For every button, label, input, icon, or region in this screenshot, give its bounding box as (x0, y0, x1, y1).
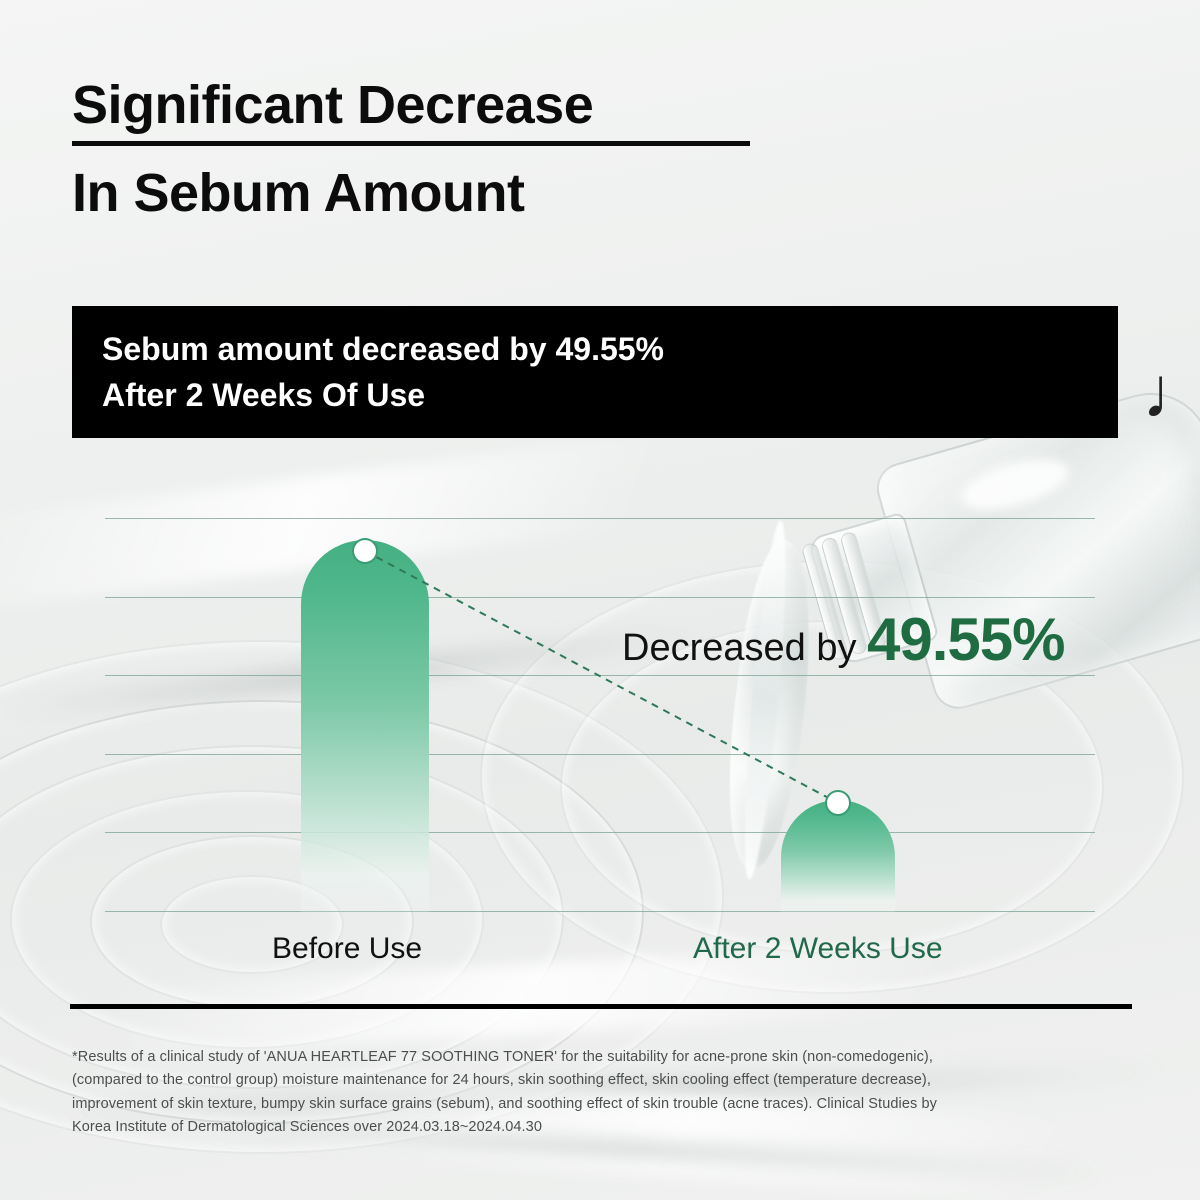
gridline (105, 675, 1095, 676)
sebum-bar-chart: Decreased by 49.55% Before Use After 2 W… (0, 0, 1200, 1200)
footer-divider (70, 1004, 1132, 1009)
data-point-marker-after (825, 790, 851, 816)
gridline (105, 832, 1095, 833)
footnote-block: *Results of a clinical study of 'ANUA HE… (72, 1046, 1132, 1140)
footnote-line-1: *Results of a clinical study of 'ANUA HE… (72, 1046, 1132, 1069)
footnote-line-3: improvement of skin texture, bumpy skin … (72, 1093, 1132, 1116)
decrease-callout-value: 49.55% (867, 606, 1065, 673)
decrease-callout: Decreased by 49.55% (622, 610, 1065, 670)
data-point-marker-before (352, 538, 378, 564)
trend-connector-line (0, 0, 1200, 1200)
bar-after-2-weeks (781, 800, 895, 912)
footnote-line-4: Korea Institute of Dermatological Scienc… (72, 1116, 1132, 1139)
decrease-callout-prefix: Decreased by (622, 627, 867, 669)
axis-label-before-use: Before Use (272, 932, 422, 966)
gridline (105, 597, 1095, 598)
gridline (105, 754, 1095, 755)
gridline (105, 911, 1095, 912)
footnote-line-2: (compared to the control group) moisture… (72, 1069, 1132, 1092)
bar-before-use (301, 540, 429, 912)
infographic-page: Significant Decrease In Sebum Amount Seb… (0, 0, 1200, 1200)
gridline (105, 518, 1095, 519)
axis-label-after-2-weeks: After 2 Weeks Use (693, 932, 943, 966)
